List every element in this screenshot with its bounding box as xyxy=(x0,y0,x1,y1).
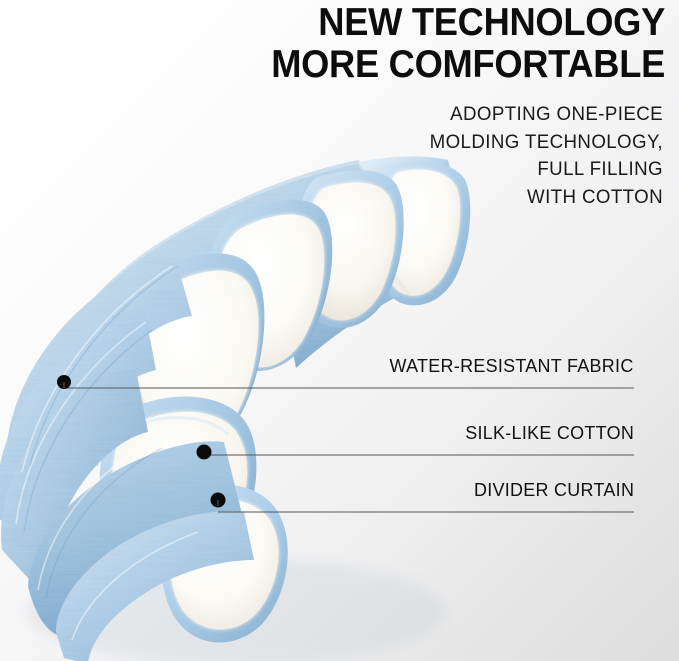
callout-label: DIVIDER CURTAIN xyxy=(474,479,634,506)
callout-label: WATER-RESISTANT FABRIC xyxy=(390,355,634,382)
subtitle: ADOPTING ONE-PIECE MOLDING TECHNOLOGY, F… xyxy=(260,101,663,212)
subtitle-line-1: ADOPTING ONE-PIECE xyxy=(260,101,663,129)
headline-line-2: MORE COMFORTABLE xyxy=(144,44,665,86)
callout-water-resistant-fabric: WATER-RESISTANT FABRIC xyxy=(382,355,634,382)
callout-silk-like-cotton: SILK-LIKE COTTON xyxy=(460,422,634,449)
subtitle-line-2: MOLDING TECHNOLOGY, xyxy=(260,129,663,157)
subtitle-line-4: WITH COTTON xyxy=(260,184,663,212)
headline-line-1: NEW TECHNOLOGY xyxy=(144,2,665,44)
headline: NEW TECHNOLOGY MORE COMFORTABLE xyxy=(144,2,665,86)
callout-divider-curtain: DIVIDER CURTAIN xyxy=(469,479,634,506)
callout-label: SILK-LIKE COTTON xyxy=(465,422,634,449)
infographic-page: NEW TECHNOLOGY MORE COMFORTABLE ADOPTING… xyxy=(0,0,679,661)
subtitle-line-3: FULL FILLING xyxy=(260,156,663,184)
